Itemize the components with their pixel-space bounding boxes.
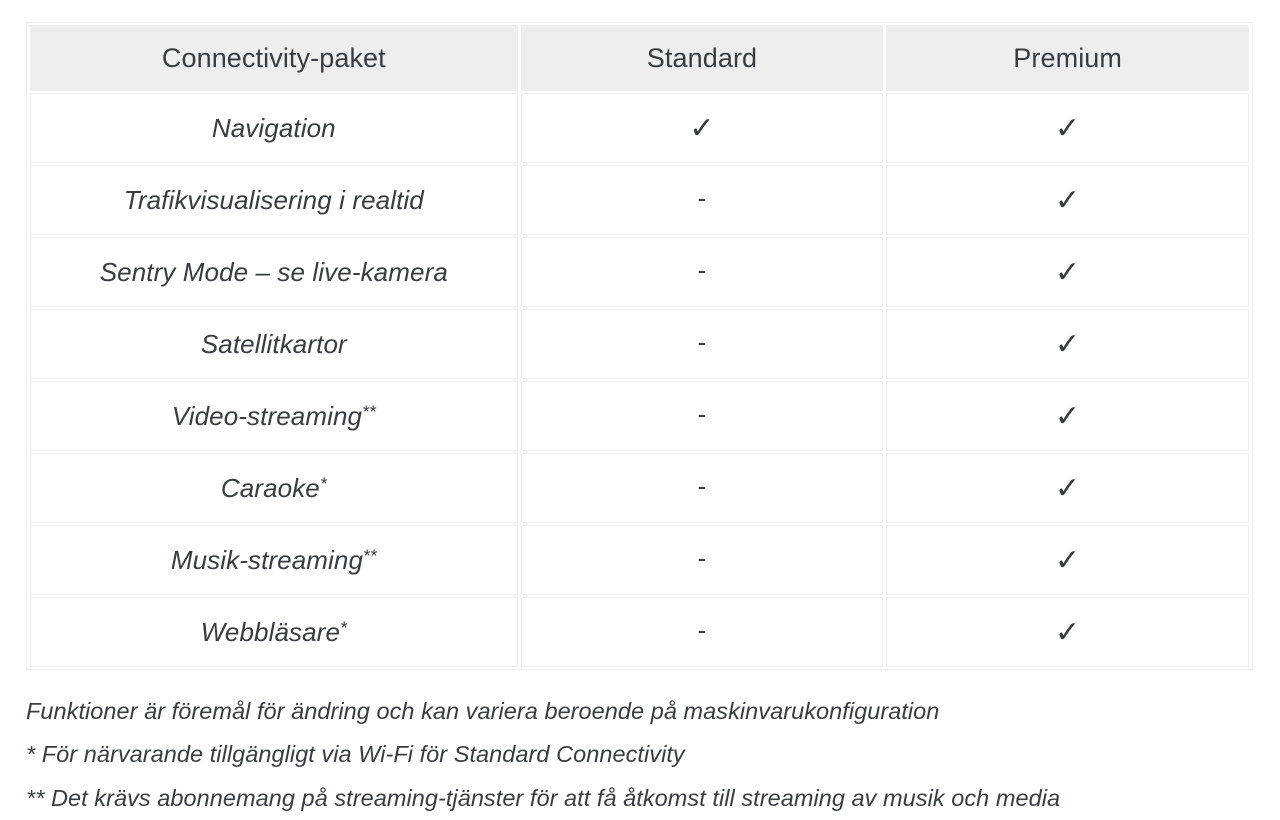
feature-label-text: Satellitkartor xyxy=(201,329,347,359)
standard-cell: - xyxy=(521,381,884,451)
premium-cell: ✓ xyxy=(886,381,1249,451)
table-row: Trafikvisualisering i realtid-✓ xyxy=(30,165,1249,235)
check-icon: ✓ xyxy=(1055,186,1080,216)
table-row: Webbläsare*-✓ xyxy=(30,597,1249,667)
check-icon: ✓ xyxy=(1055,402,1080,432)
dash-icon: - xyxy=(698,617,707,643)
table-row: Navigation✓✓ xyxy=(30,93,1249,163)
feature-label: Sentry Mode – se live-kamera xyxy=(30,237,518,307)
footnote-line: Funktioner är föremål för ändring och ka… xyxy=(26,695,1256,728)
check-icon: ✓ xyxy=(1055,114,1080,144)
check-icon: ✓ xyxy=(1055,546,1080,576)
standard-cell: - xyxy=(521,525,884,595)
table-row: Musik-streaming**-✓ xyxy=(30,525,1249,595)
footnote-marker: * xyxy=(320,473,327,493)
standard-cell: - xyxy=(521,165,884,235)
dash-icon: - xyxy=(698,401,707,427)
check-icon: ✓ xyxy=(689,114,714,144)
check-icon: ✓ xyxy=(1055,258,1080,288)
footnote-line: ** Det krävs abonnemang på streaming-tjä… xyxy=(26,782,1256,815)
check-icon: ✓ xyxy=(1055,330,1080,360)
premium-cell: ✓ xyxy=(886,309,1249,379)
column-header-standard: Standard xyxy=(521,25,884,91)
connectivity-comparison-table-container: Connectivity-paket Standard Premium Navi… xyxy=(26,22,1253,670)
feature-label: Trafikvisualisering i realtid xyxy=(30,165,518,235)
feature-label: Satellitkartor xyxy=(30,309,518,379)
feature-label-text: Video-streaming xyxy=(172,401,362,431)
column-header-premium: Premium xyxy=(886,25,1249,91)
connectivity-comparison-table: Connectivity-paket Standard Premium Navi… xyxy=(27,23,1252,669)
premium-cell: ✓ xyxy=(886,597,1249,667)
column-header-feature: Connectivity-paket xyxy=(30,25,518,91)
premium-cell: ✓ xyxy=(886,237,1249,307)
premium-cell: ✓ xyxy=(886,93,1249,163)
footnote-marker: ** xyxy=(363,545,377,565)
feature-label: Video-streaming** xyxy=(30,381,518,451)
footnotes-block: Funktioner är föremål för ändring och ka… xyxy=(26,695,1256,815)
table-row: Caraoke*-✓ xyxy=(30,453,1249,523)
footnote-marker: ** xyxy=(362,401,376,421)
connectivity-comparison-page: Connectivity-paket Standard Premium Navi… xyxy=(0,0,1280,820)
table-row: Video-streaming**-✓ xyxy=(30,381,1249,451)
footnote-marker: * xyxy=(340,617,347,637)
footnote-line: * För närvarande tillgängligt via Wi-Fi … xyxy=(26,738,1256,771)
feature-label-text: Musik-streaming xyxy=(171,545,363,575)
feature-label: Caraoke* xyxy=(30,453,518,523)
dash-icon: - xyxy=(698,185,707,211)
premium-cell: ✓ xyxy=(886,525,1249,595)
dash-icon: - xyxy=(698,473,707,499)
feature-label-text: Caraoke xyxy=(221,473,320,503)
table-body: Navigation✓✓Trafikvisualisering i realti… xyxy=(30,93,1249,667)
feature-label: Navigation xyxy=(30,93,518,163)
table-row: Sentry Mode – se live-kamera-✓ xyxy=(30,237,1249,307)
standard-cell: ✓ xyxy=(521,93,884,163)
dash-icon: - xyxy=(698,329,707,355)
feature-label: Musik-streaming** xyxy=(30,525,518,595)
standard-cell: - xyxy=(521,453,884,523)
check-icon: ✓ xyxy=(1055,618,1080,648)
dash-icon: - xyxy=(698,545,707,571)
check-icon: ✓ xyxy=(1055,474,1080,504)
table-row: Satellitkartor-✓ xyxy=(30,309,1249,379)
premium-cell: ✓ xyxy=(886,453,1249,523)
premium-cell: ✓ xyxy=(886,165,1249,235)
feature-label-text: Trafikvisualisering i realtid xyxy=(124,185,424,215)
feature-label-text: Navigation xyxy=(212,113,336,143)
feature-label-text: Sentry Mode – se live-kamera xyxy=(100,257,448,287)
table-header: Connectivity-paket Standard Premium xyxy=(30,25,1249,91)
dash-icon: - xyxy=(698,257,707,283)
feature-label: Webbläsare* xyxy=(30,597,518,667)
table-header-row: Connectivity-paket Standard Premium xyxy=(30,25,1249,91)
standard-cell: - xyxy=(521,597,884,667)
feature-label-text: Webbläsare xyxy=(201,617,340,647)
standard-cell: - xyxy=(521,309,884,379)
standard-cell: - xyxy=(521,237,884,307)
